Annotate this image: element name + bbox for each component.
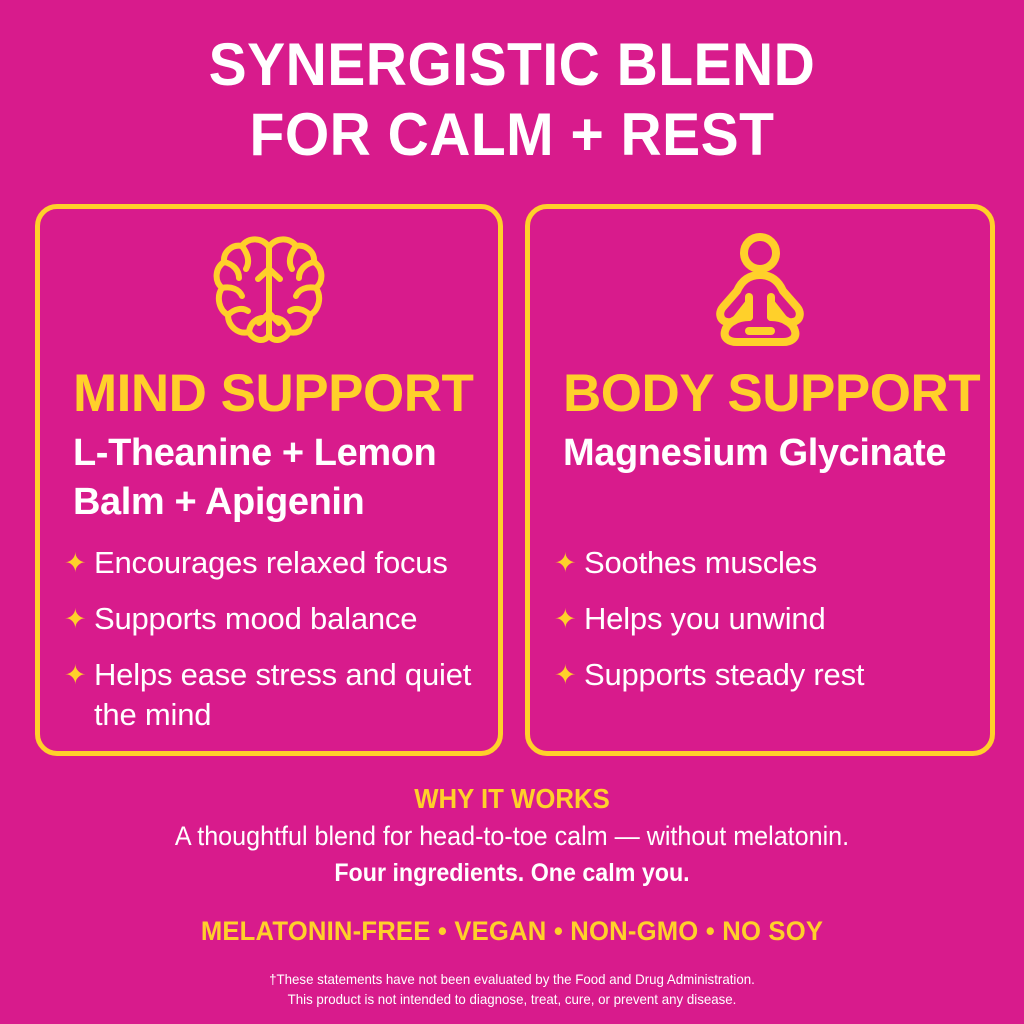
headline: SYNERGISTIC BLEND FOR CALM + REST bbox=[26, 30, 999, 170]
why-it-works-line-2: Four ingredients. One calm you. bbox=[36, 858, 988, 888]
bullet-text: Supports steady rest bbox=[584, 655, 864, 695]
sparkle-icon: ✦ bbox=[554, 655, 584, 695]
fda-disclaimer: †These statements have not been evaluate… bbox=[26, 969, 999, 1009]
bullet-text: Encourages relaxed focus bbox=[94, 543, 448, 583]
bullet-text: Soothes muscles bbox=[584, 543, 817, 583]
brain-icon bbox=[40, 231, 498, 349]
headline-line-2: FOR CALM + REST bbox=[26, 100, 999, 170]
list-item: ✦ Helps you unwind bbox=[554, 599, 976, 639]
card-subtitle: Magnesium Glycinate bbox=[563, 429, 966, 478]
card-bullet-list: ✦ Soothes muscles ✦ Helps you unwind ✦ S… bbox=[554, 543, 976, 711]
sparkle-icon: ✦ bbox=[64, 599, 94, 639]
meditation-icon bbox=[530, 231, 990, 349]
claims-badge-row: MELATONIN-FREE • VEGAN • NON-GMO • NO SO… bbox=[26, 915, 999, 947]
why-it-works-title: WHY IT WORKS bbox=[41, 783, 983, 815]
card-title: BODY SUPPORT bbox=[563, 365, 970, 423]
headline-line-1: SYNERGISTIC BLEND bbox=[26, 30, 999, 100]
list-item: ✦ Helps ease stress and quiet the mind bbox=[64, 655, 484, 735]
card-mind-support: MIND SUPPORT L-Theanine + Lemon Balm + A… bbox=[35, 204, 503, 756]
list-item: ✦ Encourages relaxed focus bbox=[64, 543, 484, 583]
card-body-support: BODY SUPPORT Magnesium Glycinate ✦ Sooth… bbox=[525, 204, 995, 756]
card-title: MIND SUPPORT bbox=[73, 365, 478, 423]
bullet-text: Helps you unwind bbox=[584, 599, 826, 639]
disclaimer-line-1: †These statements have not been evaluate… bbox=[26, 969, 999, 989]
sparkle-icon: ✦ bbox=[64, 655, 94, 695]
promo-infographic: SYNERGISTIC BLEND FOR CALM + REST bbox=[0, 0, 1024, 1024]
list-item: ✦ Soothes muscles bbox=[554, 543, 976, 583]
disclaimer-line-2: This product is not intended to diagnose… bbox=[26, 989, 999, 1009]
bullet-text: Supports mood balance bbox=[94, 599, 417, 639]
bullet-text: Helps ease stress and quiet the mind bbox=[94, 655, 484, 735]
why-it-works-line-1: A thoughtful blend for head-to-toe calm … bbox=[36, 820, 988, 852]
sparkle-icon: ✦ bbox=[554, 543, 584, 583]
sparkle-icon: ✦ bbox=[554, 599, 584, 639]
list-item: ✦ Supports steady rest bbox=[554, 655, 976, 695]
card-bullet-list: ✦ Encourages relaxed focus ✦ Supports mo… bbox=[64, 543, 484, 751]
card-subtitle: L-Theanine + Lemon Balm + Apigenin bbox=[73, 429, 474, 527]
list-item: ✦ Supports mood balance bbox=[64, 599, 484, 639]
sparkle-icon: ✦ bbox=[64, 543, 94, 583]
